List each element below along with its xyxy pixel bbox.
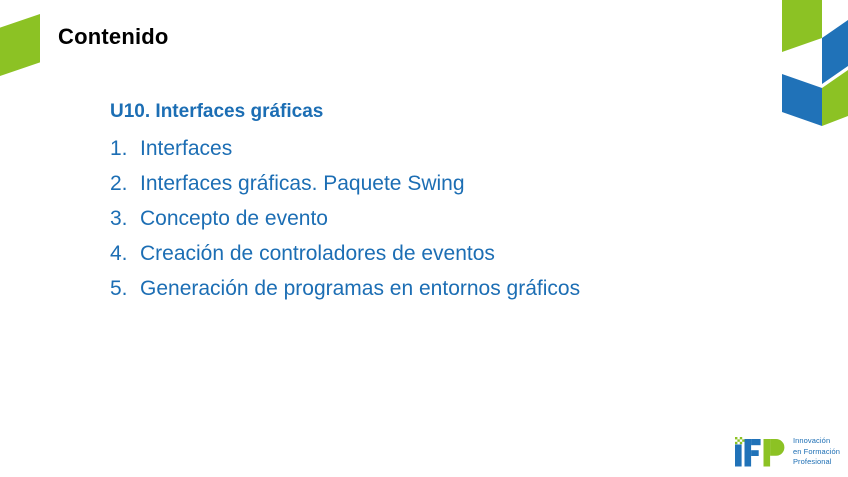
unit-heading: U10. Interfaces gráficas (110, 100, 750, 124)
list-item[interactable]: 1. Interfaces (110, 138, 750, 159)
list-item-label: Generación de programas en entornos gráf… (140, 278, 580, 299)
slide: Contenido U10. Interfaces gráficas 1. In… (0, 0, 848, 477)
list-item[interactable]: 2. Interfaces gráficas. Paquete Swing (110, 173, 750, 194)
ifp-logo-icon (732, 435, 786, 469)
page-title: Contenido (58, 24, 169, 50)
list-item-number: 3. (110, 208, 140, 229)
list-item-label: Concepto de evento (140, 208, 328, 229)
list-item-label: Interfaces gráficas. Paquete Swing (140, 173, 465, 194)
table-of-contents-list: 1. Interfaces 2. Interfaces gráficas. Pa… (110, 138, 750, 299)
list-item-number: 2. (110, 173, 140, 194)
list-item-number: 5. (110, 278, 140, 299)
list-item-number: 4. (110, 243, 140, 264)
list-item-number: 1. (110, 138, 140, 159)
brand-tagline: Innovación en Formación Profesional (793, 436, 840, 468)
brand-tagline-line-2: en Formación (793, 447, 840, 458)
brand-logo: Innovación en Formación Profesional (732, 435, 840, 469)
corner-brand-mark-icon (760, 0, 848, 126)
content-area: U10. Interfaces gráficas 1. Interfaces 2… (110, 100, 750, 299)
list-item-label: Creación de controladores de eventos (140, 243, 495, 264)
brand-tagline-line-3: Profesional (793, 457, 840, 468)
brand-tagline-line-1: Innovación (793, 436, 840, 447)
list-item[interactable]: 5. Generación de programas en entornos g… (110, 278, 750, 299)
green-parallelogram-accent (0, 14, 40, 76)
list-item[interactable]: 4. Creación de controladores de eventos (110, 243, 750, 264)
list-item-label: Interfaces (140, 138, 232, 159)
list-item[interactable]: 3. Concepto de evento (110, 208, 750, 229)
